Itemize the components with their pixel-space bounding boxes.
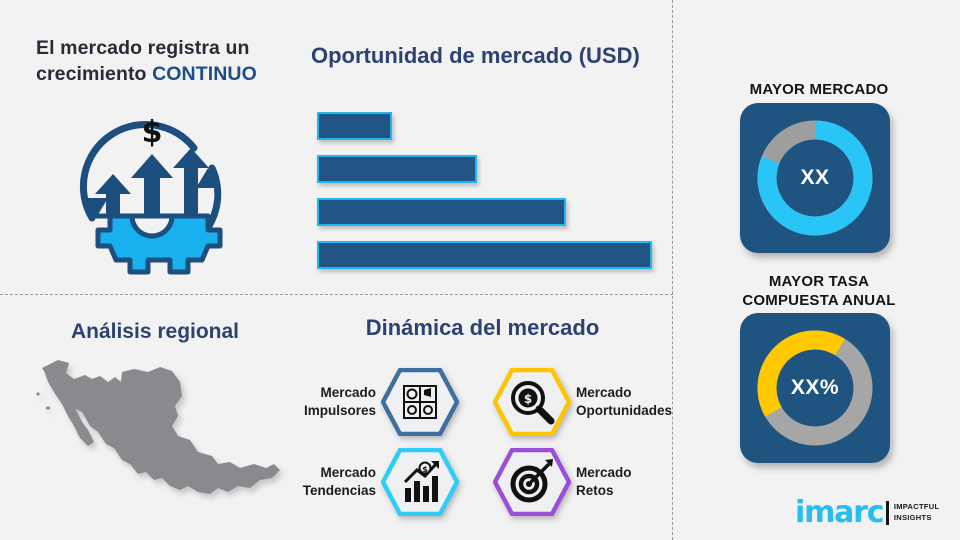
growth-title-line2: crecimiento xyxy=(36,63,152,85)
infographic-canvas: El mercado registra un crecimiento CONTI… xyxy=(0,0,960,540)
dynamics-label-challenges: Mercado Retos xyxy=(576,464,680,500)
logo-tagline-line2: INSIGHTS xyxy=(894,513,939,524)
bar-2 xyxy=(317,155,477,183)
target-dart-icon xyxy=(493,448,571,516)
bar-chart-growth-icon: $ xyxy=(381,448,459,516)
cagr-donut-value: XX% xyxy=(740,313,890,463)
dynamics-item-trends[interactable]: Mercado Tendencias $ xyxy=(296,448,459,516)
cagr-heading-line1: MAYOR TASA xyxy=(769,273,869,290)
svg-text:$: $ xyxy=(524,392,532,406)
cagr-panel-heading: MAYOR TASA COMPUESTA ANUAL xyxy=(690,272,948,310)
magnifier-dollar-icon: $ xyxy=(493,368,571,436)
horizontal-divider xyxy=(0,294,673,295)
market-panel-heading: MAYOR MERCADO xyxy=(690,80,948,99)
cagr-donut-card: XX% xyxy=(740,313,890,463)
dynamics-item-opportunities[interactable]: $ Mercado Oportunidades xyxy=(493,368,680,436)
opportunity-title: Oportunidad de mercado (USD) xyxy=(311,43,671,69)
imarc-logo: imarc IMPACTFUL INSIGHTS xyxy=(795,495,945,531)
growth-title: El mercado registra un crecimiento CONTI… xyxy=(36,36,306,87)
dollar-sign: $ xyxy=(142,115,163,150)
bar-3 xyxy=(317,198,566,226)
logo-separator xyxy=(886,501,889,525)
dynamics-row-2: Mercado Tendencias $ xyxy=(296,448,680,516)
bar-1 xyxy=(317,112,392,140)
logo-wordmark: imarc xyxy=(795,498,883,528)
market-donut-card: XX xyxy=(740,103,890,253)
mexico-map xyxy=(22,352,290,512)
dynamics-item-drivers[interactable]: Mercado Impulsores xyxy=(296,368,459,436)
market-donut-value: XX xyxy=(740,103,890,253)
logo-tagline-line1: IMPACTFUL xyxy=(894,502,939,513)
dynamics-label-opportunities: Mercado Oportunidades xyxy=(576,384,680,420)
dynamics-title: Dinámica del mercado xyxy=(300,315,665,341)
market-opportunity-bar-chart xyxy=(317,112,657,272)
cagr-heading-line2: COMPUESTA ANUAL xyxy=(742,292,895,309)
growth-title-line1: El mercado registra un xyxy=(36,37,250,59)
growth-gear-arrows-icon: $ xyxy=(62,106,242,278)
svg-text:$: $ xyxy=(422,465,428,474)
dynamics-label-trends: Mercado Tendencias xyxy=(296,464,376,500)
bar-4 xyxy=(317,241,652,269)
puzzle-pieces-icon xyxy=(381,368,459,436)
dynamics-item-challenges[interactable]: Mercado Retos xyxy=(493,448,680,516)
dynamics-label-drivers: Mercado Impulsores xyxy=(296,384,376,420)
dynamics-row-1: Mercado Impulsores xyxy=(296,368,680,436)
growth-title-accent: CONTINUO xyxy=(152,63,257,85)
logo-tagline: IMPACTFUL INSIGHTS xyxy=(894,502,939,523)
regional-title: Análisis regional xyxy=(24,320,286,344)
